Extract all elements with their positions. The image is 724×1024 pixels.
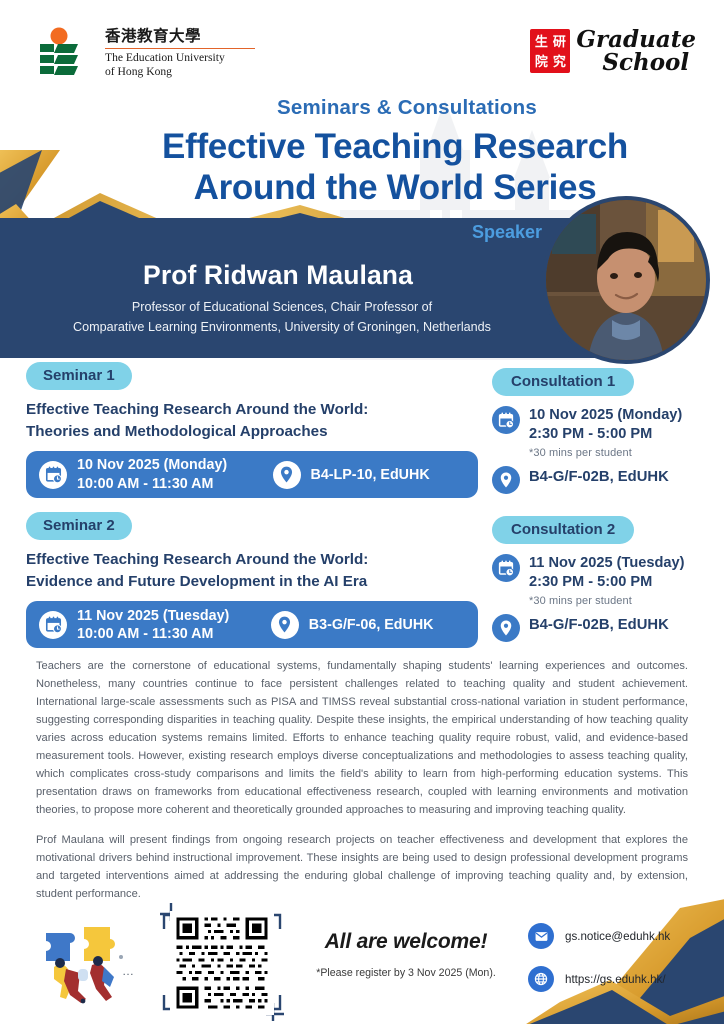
seminars-column: Seminar 1 Effective Teaching Research Ar…: [26, 362, 478, 648]
consultations-column: Consultation 1 10 Nov 2025 (Monday): [492, 368, 708, 642]
seminar-1-date: 10 Nov 2025 (Monday): [77, 456, 227, 474]
poster-title-line1: Effective Teaching Research: [66, 126, 724, 167]
contact-email-row[interactable]: gs.notice@eduhk.hk: [528, 923, 670, 949]
map-pin-icon: [492, 466, 520, 494]
consultation-block-2: Consultation 2 11 Nov 2025 (Tuesday): [492, 516, 708, 642]
speaker-portrait: [542, 196, 710, 364]
seal-char-1: 研: [551, 32, 567, 50]
consultation-1-note: *30 mins per student: [529, 446, 682, 460]
speaker-role-line1: Professor of Educational Sciences, Chair…: [8, 298, 556, 318]
eduhk-logo: 香港教育大學 The Education University of Hong …: [36, 27, 255, 81]
gs-word-line2: School: [602, 51, 696, 74]
seal-char-2: 院: [533, 52, 549, 70]
calendar-clock-icon: [492, 406, 520, 434]
poster-footer: …: [0, 905, 724, 1024]
calendar-clock-icon: [492, 554, 520, 582]
seminar-1-title: Effective Teaching Research Around the W…: [26, 399, 478, 442]
graduate-school-logo: 生 研 院 究 Graduate School: [530, 28, 696, 74]
institution-en-name-2: of Hong Kong: [105, 65, 255, 79]
seminar-2-title: Effective Teaching Research Around the W…: [26, 549, 478, 592]
seminar-2-venue: B3-G/F-06, EdUHK: [309, 617, 434, 633]
consultation-1-date: 10 Nov 2025 (Monday): [529, 406, 682, 425]
envelope-icon: [528, 923, 554, 949]
qr-code-icon: [170, 911, 274, 1015]
seminar-2-title-line1: Effective Teaching Research Around the W…: [26, 549, 478, 571]
graduate-school-wordmark: Graduate School: [576, 28, 696, 74]
abstract-paragraph-2: Prof Maulana will present findings from …: [36, 832, 688, 904]
seminar-2-badge: Seminar 2: [26, 512, 132, 540]
seal-char-3: 究: [551, 52, 567, 70]
registration-note: *Please register by 3 Nov 2025 (Mon).: [280, 967, 532, 979]
seminar-1-title-line2: Theories and Methodological Approaches: [26, 421, 478, 443]
seminar-2-datetime: 11 Nov 2025 (Tuesday) 10:00 AM - 11:30 A…: [77, 607, 229, 644]
speaker-label: Speaker: [472, 222, 542, 243]
seminar-1-badge: Seminar 1: [26, 362, 132, 390]
gs-word-line1: Graduate: [576, 28, 696, 51]
consultation-2-venue-row: B4-G/F-02B, EdUHK: [492, 614, 708, 642]
seminar-2-title-line2: Evidence and Future Development in the A…: [26, 571, 478, 593]
seminar-2-time: 10:00 AM - 11:30 AM: [77, 625, 229, 643]
contact-email[interactable]: gs.notice@eduhk.hk: [565, 930, 670, 943]
globe-icon: [528, 966, 554, 992]
consultation-1-venue: B4-G/F-02B, EdUHK: [529, 466, 669, 485]
calendar-clock-icon: [39, 611, 67, 639]
seminar-block-2: Seminar 2 Effective Teaching Research Ar…: [26, 512, 478, 648]
contact-info: gs.notice@eduhk.hk https://gs.eduhk.hk/: [528, 923, 670, 1009]
consultation-block-1: Consultation 1 10 Nov 2025 (Monday): [492, 368, 708, 494]
seminar-1-datetime: 10 Nov 2025 (Monday) 10:00 AM - 11:30 AM: [77, 456, 227, 493]
seminar-1-time: 10:00 AM - 11:30 AM: [77, 475, 227, 493]
seminar-1-infobar: 10 Nov 2025 (Monday) 10:00 AM - 11:30 AM…: [26, 451, 478, 498]
speaker-name: Prof Ridwan Maulana: [0, 260, 556, 291]
consultation-2-date: 11 Nov 2025 (Tuesday): [529, 554, 684, 573]
map-pin-icon: [273, 461, 301, 489]
graduate-school-seal-icon: 生 研 院 究: [530, 29, 570, 73]
consultation-1-datetime: 10 Nov 2025 (Monday) 2:30 PM - 5:00 PM *…: [529, 406, 682, 460]
consultation-1-time: 2:30 PM - 5:00 PM: [529, 425, 682, 444]
poster-kicker: Seminars & Consultations: [0, 96, 724, 120]
consultation-2-datetime: 11 Nov 2025 (Tuesday) 2:30 PM - 5:00 PM …: [529, 554, 684, 608]
seminar-2-date: 11 Nov 2025 (Tuesday): [77, 607, 229, 625]
abstract-text: Teachers are the cornerstone of educatio…: [36, 658, 688, 904]
contact-website[interactable]: https://gs.eduhk.hk/: [565, 973, 666, 986]
calendar-clock-icon: [39, 461, 67, 489]
logo-divider: [105, 48, 255, 50]
consultation-2-badge: Consultation 2: [492, 516, 634, 544]
eduhk-logo-icon: [36, 27, 94, 81]
consultation-1-datetime-row: 10 Nov 2025 (Monday) 2:30 PM - 5:00 PM *…: [492, 406, 708, 460]
seminar-block-1: Seminar 1 Effective Teaching Research Ar…: [26, 362, 478, 498]
consultation-2-venue: B4-G/F-02B, EdUHK: [529, 614, 669, 633]
map-pin-icon: [271, 611, 299, 639]
consultation-1-venue-row: B4-G/F-02B, EdUHK: [492, 466, 708, 494]
seminar-1-venue: B4-LP-10, EdUHK: [311, 467, 430, 483]
institution-en-name-1: The Education University: [105, 51, 255, 65]
consultation-2-time: 2:30 PM - 5:00 PM: [529, 573, 684, 592]
consultation-2-datetime-row: 11 Nov 2025 (Tuesday) 2:30 PM - 5:00 PM …: [492, 554, 708, 608]
puzzle-people-illustration: …: [38, 917, 158, 1005]
svg-text:…: …: [122, 964, 134, 978]
seminar-2-infobar: 11 Nov 2025 (Tuesday) 10:00 AM - 11:30 A…: [26, 601, 478, 648]
institution-cn-name: 香港教育大學: [105, 28, 255, 45]
map-pin-icon: [492, 614, 520, 642]
speaker-role: Professor of Educational Sciences, Chair…: [8, 298, 556, 337]
consultation-2-note: *30 mins per student: [529, 594, 684, 608]
seminar-1-title-line1: Effective Teaching Research Around the W…: [26, 399, 478, 421]
contact-website-row[interactable]: https://gs.eduhk.hk/: [528, 966, 670, 992]
consultation-1-badge: Consultation 1: [492, 368, 634, 396]
poster: 香港教育大學 The Education University of Hong …: [0, 0, 724, 1024]
welcome-message: All are welcome!: [290, 930, 522, 954]
abstract-paragraph-1: Teachers are the cornerstone of educatio…: [36, 658, 688, 820]
speaker-role-line2: Comparative Learning Environments, Unive…: [8, 318, 556, 338]
seal-char-0: 生: [533, 32, 549, 50]
